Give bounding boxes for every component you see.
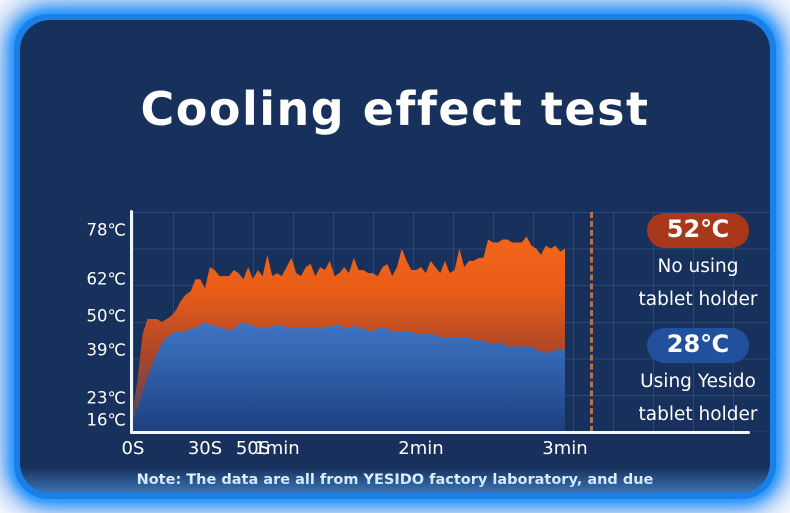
legend-hot-line1: No using (608, 254, 770, 281)
area-chart-svg (133, 212, 601, 432)
status-badge-cool: 28℃ (647, 328, 749, 363)
y-tick-label: 62℃ (86, 270, 126, 289)
y-tick-label: 39℃ (86, 340, 126, 359)
x-tick-label: 30S (188, 438, 222, 459)
y-axis-line (130, 210, 133, 434)
x-tick-label: 2min (398, 438, 443, 459)
y-axis-labels: 78℃62℃50℃39℃23℃16℃ (68, 212, 126, 432)
x-axis-line (130, 431, 750, 434)
y-tick-label: 78℃ (86, 221, 126, 240)
legend-using-holder: 28℃ Using Yesido tablet holder (608, 328, 770, 429)
cooling-effect-infographic: Cooling effect test (0, 0, 790, 513)
y-tick-label: 16℃ (86, 410, 126, 429)
legend-cool-line2: tablet holder (608, 402, 770, 429)
footnote-line-1: Note: The data are all from YESIDO facto… (20, 468, 770, 493)
main-panel: Cooling effect test (20, 20, 770, 493)
x-tick-label: 0S (122, 438, 145, 459)
chart-plot-area (133, 212, 601, 432)
legend-hot-line2: tablet holder (608, 287, 770, 314)
measurement-cutoff-line (590, 212, 593, 432)
x-axis-labels: 0S30S50S1min2min3min (20, 438, 770, 468)
legend-no-holder: 52℃ No using tablet holder (608, 213, 770, 314)
status-badge-hot: 52℃ (647, 213, 749, 248)
footnote: Note: The data are all from YESIDO facto… (20, 468, 770, 493)
page-title: Cooling effect test (20, 82, 770, 136)
x-tick-label: 3min (542, 438, 587, 459)
x-tick-label: 1min (254, 438, 299, 459)
legend-cool-line1: Using Yesido (608, 369, 770, 396)
y-tick-label: 23℃ (86, 389, 126, 408)
y-tick-label: 50℃ (86, 306, 126, 325)
